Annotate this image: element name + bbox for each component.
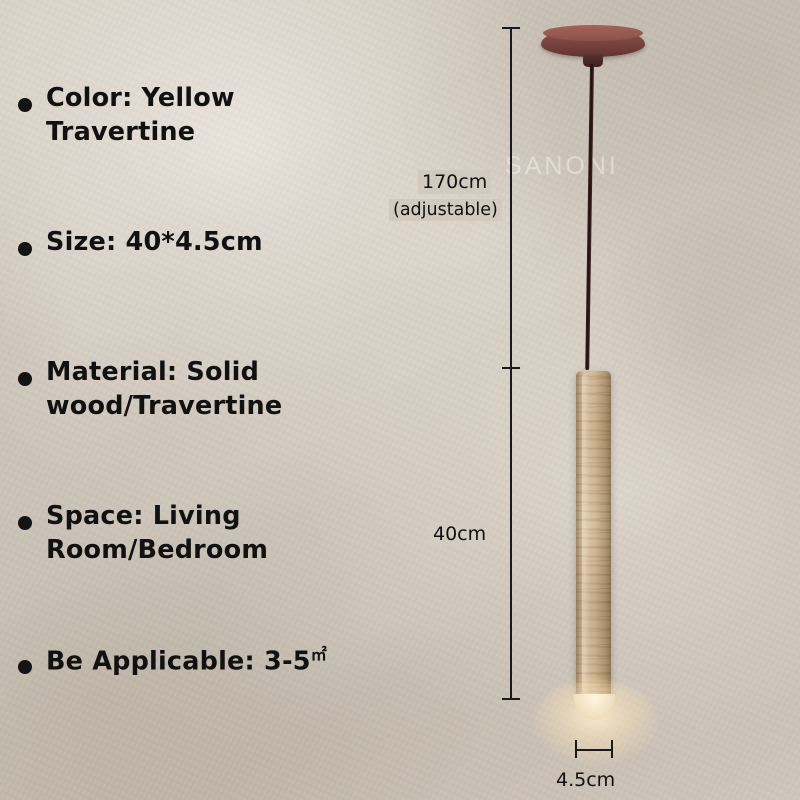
dim-tick-cord-top (502, 27, 520, 29)
dim-label-diameter: 4.5cm (556, 769, 615, 791)
dim-label-body-length: 40cm (429, 522, 490, 546)
dim-axis-cord (510, 27, 512, 369)
hanging-cord (585, 64, 594, 370)
dim-tick-diameter-left (575, 740, 577, 758)
product-image: SANONI Color: Yellow Travertine Size: 40… (0, 0, 800, 800)
light-glow (533, 680, 657, 764)
dim-tick-body-bottom (502, 698, 520, 700)
dim-label-cord-length: 170cm (418, 170, 491, 194)
pendant-lamp-photo (0, 0, 800, 800)
dim-tick-diameter-right (611, 740, 613, 758)
dim-label-cord-note: (adjustable) (389, 199, 502, 221)
travertine-highlight (582, 374, 590, 694)
dim-axis-body (510, 369, 512, 700)
dim-axis-diameter (575, 749, 613, 751)
ceiling-canopy-top (543, 25, 643, 41)
